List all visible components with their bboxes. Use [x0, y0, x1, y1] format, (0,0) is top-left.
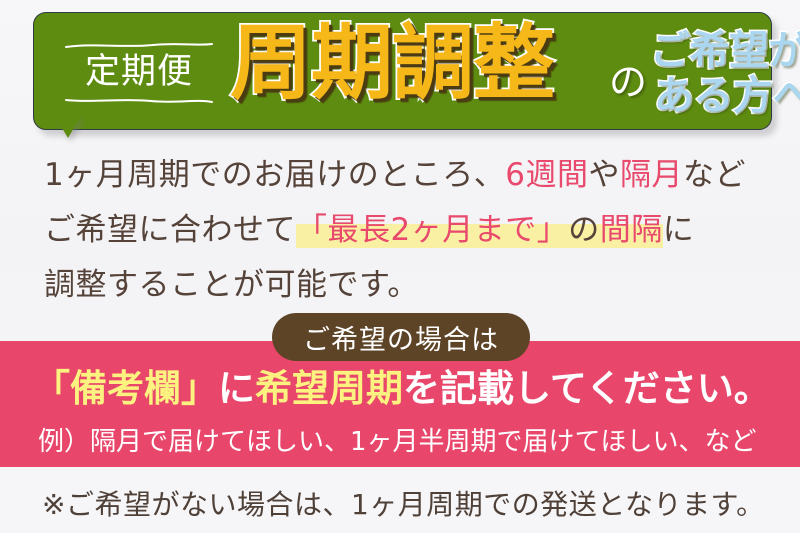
desc-text-ni: に: [663, 212, 695, 248]
subscription-label-group: 定期便: [59, 29, 219, 117]
header-banner: 定期便 周期調整 の ご希望が ある方へ: [33, 12, 772, 130]
desc-text-etc: など: [683, 157, 746, 193]
wavy-line-bottom-icon: [65, 97, 213, 104]
instruction-field-name: 「備考欄」: [33, 367, 218, 410]
desc-highlight-six-weeks: 6週間: [505, 157, 588, 193]
desc-text-normal: 1ヶ月周期でのお届けのところ、: [44, 157, 505, 193]
instruction-headline: 「備考欄」に希望周期を記載してください。: [33, 369, 771, 410]
target-audience-line-2: ある方へ: [654, 76, 800, 116]
request-case-badge-label: ご希望の場合は: [303, 318, 499, 357]
desc-highlight-max-two-months: 「最長2ヶ月まで」: [296, 212, 568, 248]
title-particle: の: [609, 63, 647, 101]
description-line-3: 調整することが可能です。: [44, 258, 764, 313]
subscription-label: 定期便: [85, 52, 193, 93]
target-audience-line-1: ご希望が: [650, 31, 800, 71]
page-title: 周期調整: [230, 23, 554, 105]
desc-highlight-interval: 間隔: [600, 212, 663, 248]
promo-banner-page: 定期便 周期調整 の ご希望が ある方へ 1ヶ月周期でのお届けのところ、6週間や…: [0, 0, 800, 533]
instruction-please-write: を記載してください。: [403, 367, 771, 410]
target-audience-group: ご希望が ある方へ: [650, 31, 800, 121]
description-block: 1ヶ月周期でのお届けのところ、6週間や隔月など ご希望に合わせて「最長2ヶ月まで…: [44, 148, 764, 313]
wavy-line-top-icon: [65, 42, 213, 49]
instruction-desired-cycle: 希望周期: [255, 367, 403, 410]
footer-note: ※ご希望がない場合は、1ヶ月周期での発送となります。: [42, 483, 765, 523]
description-line-1: 1ヶ月周期でのお届けのところ、6週間や隔月など: [44, 148, 764, 203]
speech-bubble-tail: [55, 116, 81, 138]
desc-text-or: や: [588, 157, 620, 193]
desc-highlight-every-other-month: 隔月: [620, 157, 683, 193]
desc-text-according: ご希望に合わせて: [44, 212, 296, 248]
desc-text-no: の: [568, 212, 600, 248]
instruction-example: 例）隔月で届けてほしい、1ヶ月半周期で届けてほしい、など: [38, 421, 757, 458]
description-line-2: ご希望に合わせて「最長2ヶ月まで」の間隔に: [44, 203, 764, 258]
request-case-badge: ご希望の場合は: [272, 313, 530, 361]
instruction-ni: に: [218, 367, 255, 410]
